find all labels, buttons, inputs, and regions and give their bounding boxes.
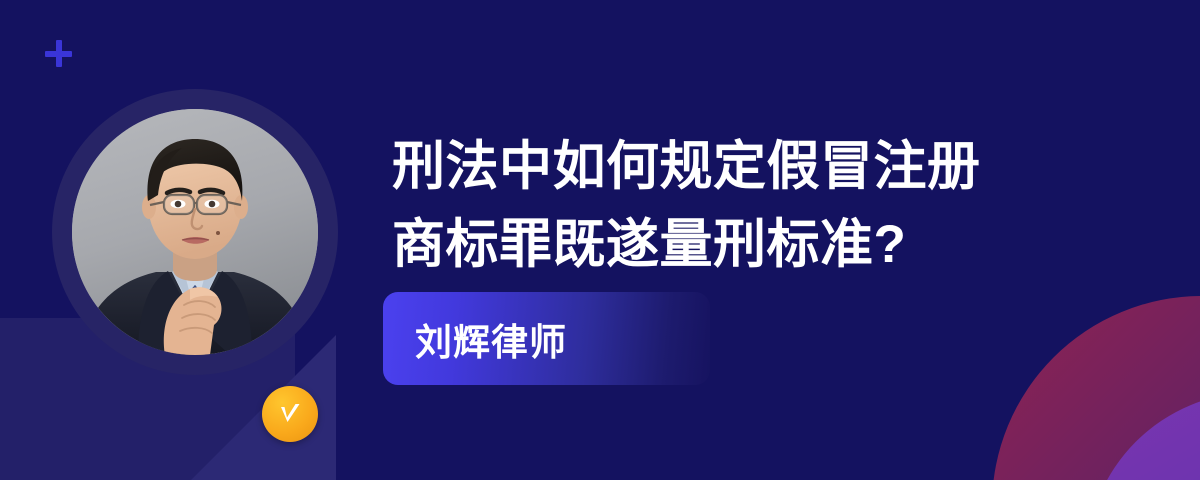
lawyer-name-badge[interactable]: 刘辉律师: [383, 292, 710, 385]
avatar-photo: [72, 109, 318, 355]
legal-qa-banner: 刑法中如何规定假冒注册 商标罪既遂量刑标准? 刘辉律师: [0, 0, 1200, 480]
avatar: [52, 89, 338, 375]
page-title: 刑法中如何规定假冒注册 商标罪既遂量刑标准?: [392, 128, 1092, 284]
verified-check-icon: [262, 386, 318, 442]
lawyer-name-label: 刘辉律师: [383, 312, 567, 366]
plus-icon: [45, 40, 72, 67]
